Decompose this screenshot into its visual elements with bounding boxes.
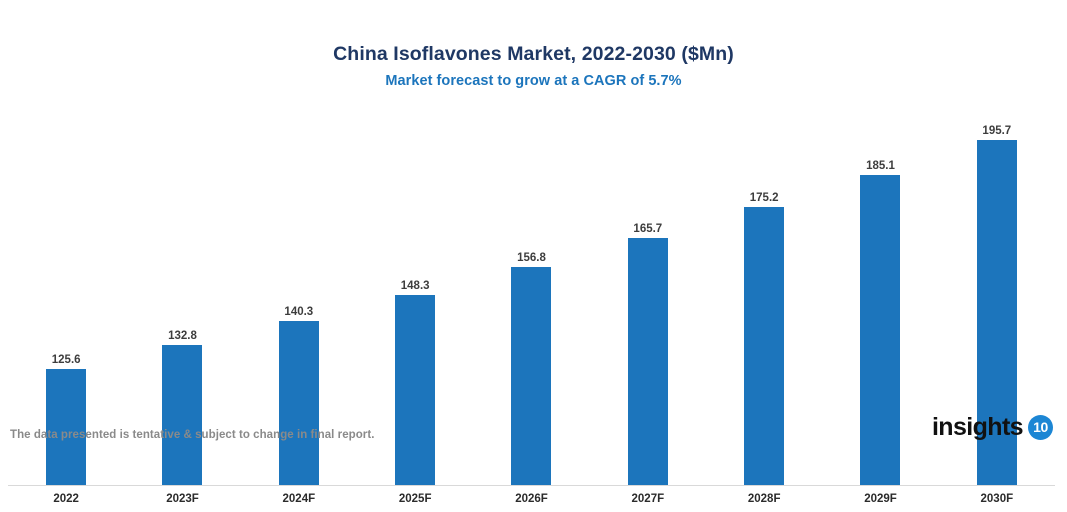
bar[interactable] xyxy=(744,207,784,485)
category-label: 2025F xyxy=(357,486,473,512)
plot-area: 125.6132.8140.3148.3156.8165.7175.2185.1… xyxy=(0,110,1067,376)
bar[interactable] xyxy=(511,267,551,485)
bar-slot: 185.1 xyxy=(822,110,938,486)
category-label: 2022 xyxy=(8,486,124,512)
bar-value-label: 195.7 xyxy=(982,125,1011,137)
bar-value-label: 125.6 xyxy=(52,354,81,366)
bar-slot: 165.7 xyxy=(590,110,706,486)
bar-value-label: 175.2 xyxy=(750,192,779,204)
category-label: 2028F xyxy=(706,486,822,512)
bar[interactable] xyxy=(628,238,668,485)
logo-wordmark: insights xyxy=(932,414,1023,440)
chart-container: China Isoflavones Market, 2022-2030 ($Mn… xyxy=(0,0,1067,454)
disclaimer-text: The data presented is tentative & subjec… xyxy=(10,429,374,441)
category-label: 2023F xyxy=(124,486,240,512)
category-label: 2026F xyxy=(473,486,589,512)
bar-value-label: 148.3 xyxy=(401,280,430,292)
chart-header: China Isoflavones Market, 2022-2030 ($Mn… xyxy=(0,42,1067,92)
chart-subtitle: Market forecast to grow at a CAGR of 5.7… xyxy=(0,70,1067,92)
category-label: 2027F xyxy=(590,486,706,512)
bar[interactable] xyxy=(279,321,319,485)
category-label: 2029F xyxy=(822,486,938,512)
bar[interactable] xyxy=(162,345,202,485)
bar-slot: 156.8 xyxy=(473,110,589,486)
bar[interactable] xyxy=(395,295,435,485)
bar[interactable] xyxy=(46,369,86,485)
bar-slot: 175.2 xyxy=(706,110,822,486)
bar-value-label: 185.1 xyxy=(866,160,895,172)
chart-title: China Isoflavones Market, 2022-2030 ($Mn… xyxy=(0,42,1067,66)
bar-value-label: 165.7 xyxy=(633,223,662,235)
category-label: 2024F xyxy=(241,486,357,512)
bar-value-label: 156.8 xyxy=(517,252,546,264)
category-axis-labels: 20222023F2024F2025F2026F2027F2028F2029F2… xyxy=(8,486,1055,512)
category-label: 2030F xyxy=(939,486,1055,512)
bar[interactable] xyxy=(860,175,900,485)
bar-value-label: 132.8 xyxy=(168,330,197,342)
logo-badge-icon: 10 xyxy=(1028,415,1053,440)
insights10-logo: insights 10 xyxy=(932,410,1053,444)
bar-value-label: 140.3 xyxy=(284,306,313,318)
